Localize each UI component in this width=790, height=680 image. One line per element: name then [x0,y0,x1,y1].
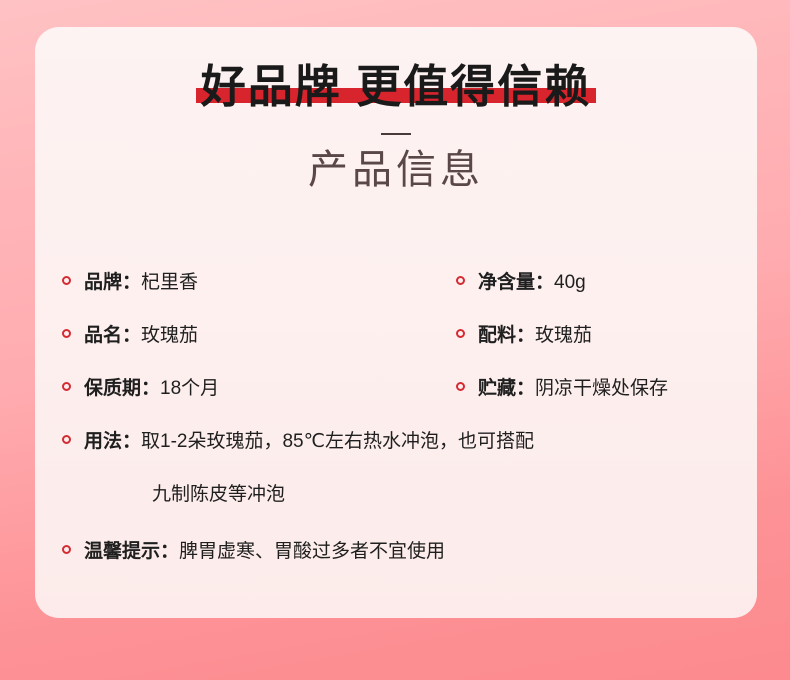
bullet-circle-icon [62,329,71,338]
bullet-circle-icon [456,382,465,391]
info-item-shelf-life: 保质期： 18个月 [35,373,439,400]
page-title: 好品牌 更值得信赖 [201,64,592,109]
info-label: 品牌： [84,267,141,294]
product-info-page: 好品牌 更值得信赖 产品信息 品牌： 杞里香 净含量： 40g [0,0,790,680]
bullet-circle-icon [62,276,71,285]
info-value: 玫瑰茄 [535,320,592,347]
info-label: 贮藏： [478,373,535,400]
info-row: 品名： 玫瑰茄 配料： 玫瑰茄 [35,320,757,373]
info-item-ingredients: 配料： 玫瑰茄 [439,320,757,347]
info-label: 品名： [84,320,141,347]
info-card: 好品牌 更值得信赖 产品信息 品牌： 杞里香 净含量： 40g [35,27,757,618]
info-item-brand: 品牌： 杞里香 [35,267,439,294]
info-item-usage: 用法： 取1-2朵玫瑰茄，85℃左右热水冲泡，也可搭配 [35,426,757,453]
bullet-circle-icon [456,276,465,285]
info-label: 保质期： [84,373,160,400]
info-item-storage: 贮藏： 阴凉干燥处保存 [439,373,757,400]
info-row: 保质期： 18个月 贮藏： 阴凉干燥处保存 [35,373,757,426]
info-value: 18个月 [160,373,219,400]
bullet-circle-icon [62,382,71,391]
info-value: 阴凉干燥处保存 [535,373,668,400]
info-item-net-weight: 净含量： 40g [439,267,757,294]
info-label: 温馨提示： [84,536,179,563]
info-label: 净含量： [478,267,554,294]
info-label: 用法： [84,426,141,453]
info-row: 用法： 取1-2朵玫瑰茄，85℃左右热水冲泡，也可搭配 [35,426,757,479]
info-row: 品牌： 杞里香 净含量： 40g [35,267,757,320]
product-info-list: 品牌： 杞里香 净含量： 40g 品名： 玫瑰茄 配料： [35,267,757,576]
info-value: 取1-2朵玫瑰茄，85℃左右热水冲泡，也可搭配 [141,426,534,453]
section-subtitle: 产品信息 [35,147,757,193]
info-value: 玫瑰茄 [141,320,198,347]
info-value: 杞里香 [141,267,198,294]
info-value: 40g [554,272,586,294]
bullet-circle-icon [456,329,465,338]
info-item-product-name: 品名： 玫瑰茄 [35,320,439,347]
bullet-circle-icon [62,545,71,554]
card-header: 好品牌 更值得信赖 产品信息 [35,27,757,193]
info-item-warm-tip: 温馨提示： 脾胃虚寒、胃酸过多者不宜使用 [35,536,757,563]
info-label: 配料： [478,320,535,347]
bullet-circle-icon [62,435,71,444]
info-row: 温馨提示： 脾胃虚寒、胃酸过多者不宜使用 [35,536,757,576]
divider-dash-icon [381,133,411,135]
info-usage-continuation: 九制陈皮等冲泡 [35,479,757,536]
headline-wrapper: 好品牌 更值得信赖 [201,64,592,109]
info-value: 脾胃虚寒、胃酸过多者不宜使用 [179,536,445,563]
